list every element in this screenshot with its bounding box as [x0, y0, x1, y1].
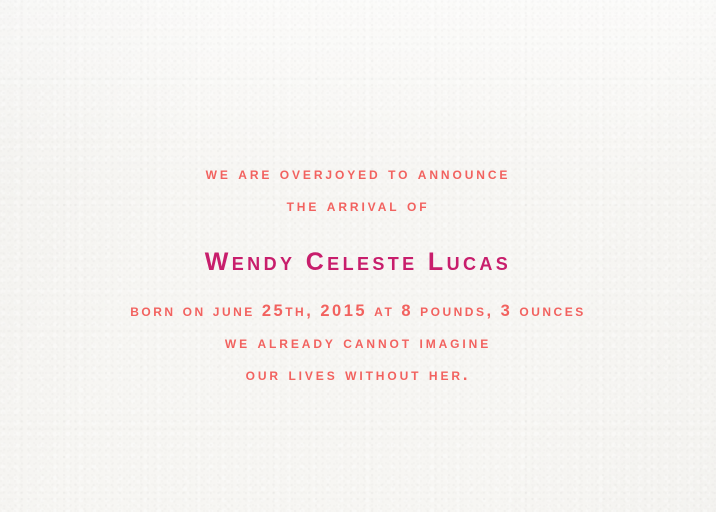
announcement-text-block: we are overjoyed to announce the arrival…	[0, 0, 716, 391]
closing-line-2: our lives without her.	[0, 359, 716, 391]
invitation-card: we are overjoyed to announce the arrival…	[0, 0, 716, 512]
intro-line-1: we are overjoyed to announce	[0, 158, 716, 190]
birth-details-line: born on june 25th, 2015 at 8 pounds, 3 o…	[0, 296, 716, 327]
closing-line-1: we already cannot imagine	[0, 327, 716, 359]
intro-line-2: the arrival of	[0, 190, 716, 222]
honoree-name: Wendy Celeste Lucas	[0, 247, 716, 277]
